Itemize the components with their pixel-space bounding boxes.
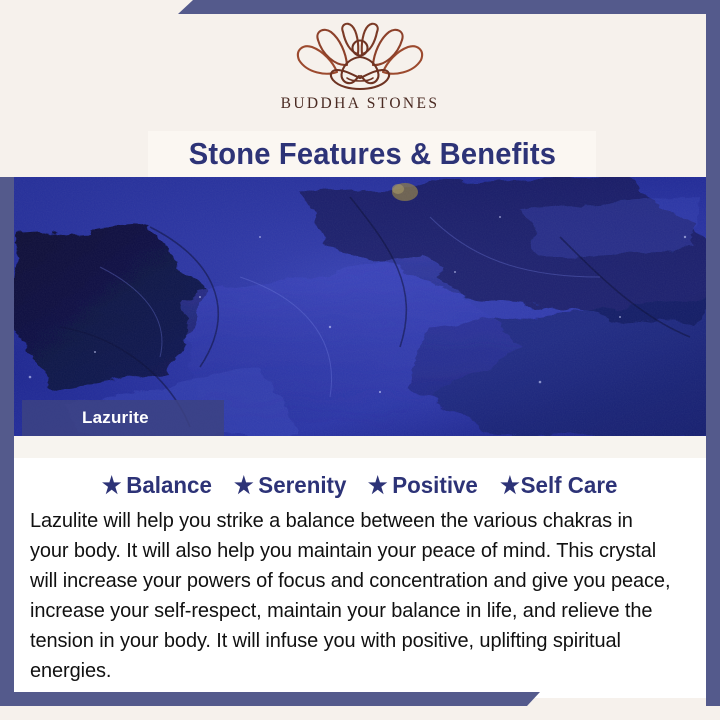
- title-band: Stone Features & Benefits: [148, 131, 596, 177]
- frame-bottom-outside: [0, 706, 720, 720]
- benefit-label: Self Care: [521, 472, 618, 499]
- star-icon: ★: [102, 474, 122, 497]
- header: BUDDHA STONES Stone Features & Benefits: [0, 14, 720, 177]
- stone-photo-graphic: [0, 177, 720, 436]
- page-title: Stone Features & Benefits: [188, 136, 555, 172]
- panel-top-divider: [14, 436, 706, 458]
- star-icon: ★: [234, 474, 254, 497]
- benefits-row: ★ Balance ★ Serenity ★ Positive ★ Self C…: [14, 472, 706, 499]
- brand-name: BUDDHA STONES: [281, 95, 440, 113]
- stone-name-banner: Lazurite: [22, 400, 224, 436]
- stone-name-label: Lazurite: [82, 408, 149, 428]
- lotus-meditation-icon: [285, 20, 435, 92]
- lazurite-stone-photo: [0, 177, 720, 436]
- brand-logo: BUDDHA STONES: [0, 20, 720, 113]
- frame-top-band: [178, 0, 720, 14]
- stone-description: Lazulite will help you strike a balance …: [30, 506, 674, 686]
- star-icon: ★: [368, 474, 388, 497]
- benefit-item-serenity: ★ Serenity: [234, 472, 346, 499]
- benefit-item-positive: ★ Positive: [368, 472, 478, 499]
- benefit-item-balance: ★ Balance: [102, 472, 212, 499]
- benefit-label: Balance: [127, 472, 213, 499]
- content-panel: ★ Balance ★ Serenity ★ Positive ★ Self C…: [14, 436, 706, 698]
- benefit-item-self-care: ★ Self Care: [500, 472, 617, 499]
- benefit-label: Serenity: [258, 472, 346, 499]
- star-icon: ★: [500, 474, 520, 497]
- infographic-page: BUDDHA STONES Stone Features & Benefits …: [0, 0, 720, 720]
- benefit-label: Positive: [393, 472, 479, 499]
